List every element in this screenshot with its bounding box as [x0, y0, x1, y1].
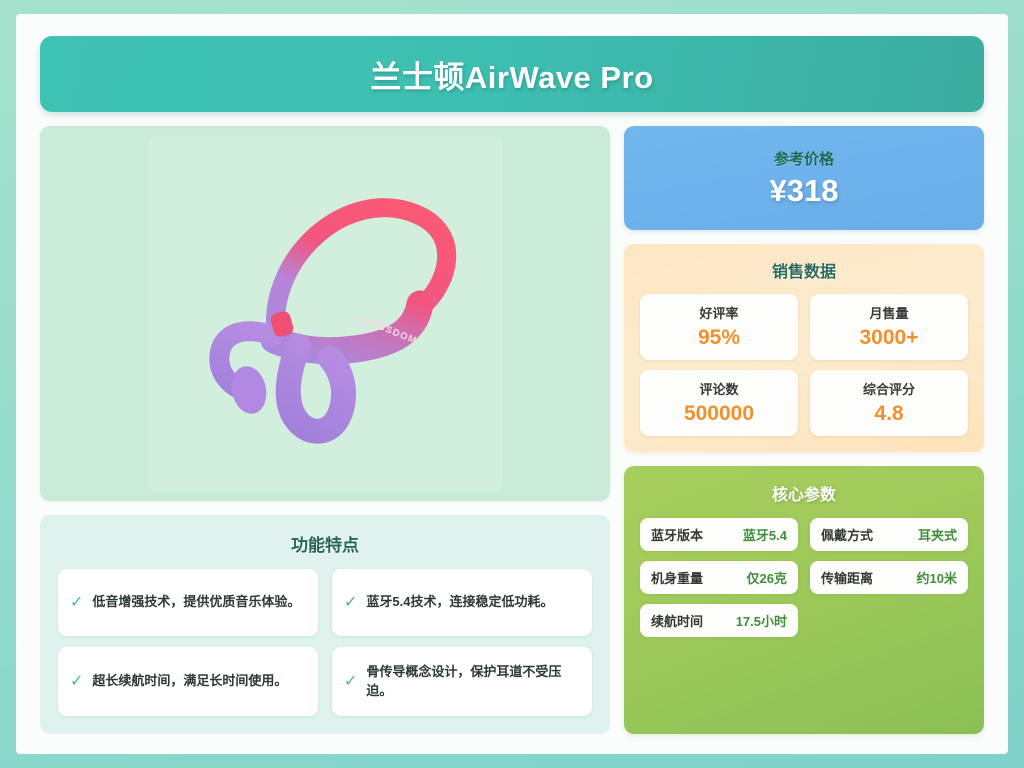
- page-title-banner: 兰士顿AirWave Pro: [40, 36, 984, 112]
- spec-pill-transmission-distance: 传输距离 约10米: [810, 561, 968, 594]
- stat-value: 4.8: [816, 402, 962, 425]
- content-grid: LANGSDOM 功能特点 ✓ 低音增强技术，提供优质音乐体验。 ✓ 蓝牙5.4…: [40, 126, 984, 734]
- stat-tile-overall-score: 综合评分 4.8: [810, 370, 968, 436]
- feature-card: ✓ 超长续航时间，满足长时间使用。: [58, 647, 318, 716]
- check-icon: ✓: [344, 674, 357, 690]
- spec-pill-bluetooth-version: 蓝牙版本 蓝牙5.4: [640, 518, 798, 551]
- spec-value: 17.5小时: [736, 611, 787, 630]
- stat-tile-rating-rate: 好评率 95%: [640, 294, 798, 360]
- core-specs-card: 核心参数 蓝牙版本 蓝牙5.4 佩戴方式 耳夹式 机身重量 仅26克: [624, 466, 984, 734]
- check-icon: ✓: [70, 674, 83, 690]
- stat-label: 月售量: [816, 303, 962, 322]
- feature-card: ✓ 蓝牙5.4技术，连接稳定低功耗。: [332, 569, 592, 636]
- stat-value: 500000: [646, 402, 792, 425]
- product-detail-page: 兰士顿AirWave Pro: [16, 14, 1008, 754]
- features-panel: 功能特点 ✓ 低音增强技术，提供优质音乐体验。 ✓ 蓝牙5.4技术，连接稳定低功…: [40, 515, 610, 734]
- spec-value: 蓝牙5.4: [743, 525, 787, 544]
- feature-card: ✓ 骨传导概念设计，保护耳道不受压迫。: [332, 647, 592, 716]
- feature-text: 低音增强技术，提供优质音乐体验。: [92, 593, 300, 612]
- stat-label: 评论数: [646, 379, 792, 398]
- stat-label: 综合评分: [816, 379, 962, 398]
- spec-label: 续航时间: [651, 611, 703, 630]
- feature-text: 骨传导概念设计，保护耳道不受压迫。: [366, 663, 580, 701]
- left-column: LANGSDOM 功能特点 ✓ 低音增强技术，提供优质音乐体验。 ✓ 蓝牙5.4…: [40, 126, 610, 734]
- features-grid: ✓ 低音增强技术，提供优质音乐体验。 ✓ 蓝牙5.4技术，连接稳定低功耗。 ✓ …: [58, 569, 592, 716]
- features-title: 功能特点: [58, 531, 592, 556]
- core-specs-title: 核心参数: [640, 481, 968, 505]
- spec-value: 耳夹式: [918, 525, 957, 544]
- stat-tile-review-count: 评论数 500000: [640, 370, 798, 436]
- spec-label: 佩戴方式: [821, 525, 873, 544]
- page-title: 兰士顿AirWave Pro: [370, 52, 653, 97]
- right-column: 参考价格 ¥318 销售数据 好评率 95% 月售量 3000+ 评论数: [624, 126, 984, 734]
- check-icon: ✓: [344, 595, 357, 611]
- feature-text: 蓝牙5.4技术，连接稳定低功耗。: [366, 593, 553, 612]
- spec-value: 约10米: [917, 568, 957, 587]
- check-icon: ✓: [70, 595, 83, 611]
- stat-value: 95%: [646, 326, 792, 349]
- feature-card: ✓ 低音增强技术，提供优质音乐体验。: [58, 569, 318, 636]
- price-label: 参考价格: [774, 148, 834, 169]
- price-card: 参考价格 ¥318: [624, 126, 984, 230]
- stat-label: 好评率: [646, 303, 792, 322]
- spec-label: 机身重量: [651, 568, 703, 587]
- spec-pill-weight: 机身重量 仅26克: [640, 561, 798, 594]
- spec-label: 蓝牙版本: [651, 525, 703, 544]
- sales-stat-grid: 好评率 95% 月售量 3000+ 评论数 500000 综合评分 4.8: [640, 294, 968, 436]
- stat-tile-monthly-sales: 月售量 3000+: [810, 294, 968, 360]
- spec-pill-battery-life: 续航时间 17.5小时: [640, 604, 798, 637]
- spec-pill-wear-style: 佩戴方式 耳夹式: [810, 518, 968, 551]
- product-image-panel: LANGSDOM: [40, 126, 610, 501]
- headphones-illustration: [148, 136, 503, 491]
- stat-value: 3000+: [816, 326, 962, 349]
- sales-data-title: 销售数据: [640, 258, 968, 282]
- spec-label: 传输距离: [821, 568, 873, 587]
- product-image: LANGSDOM: [148, 136, 503, 491]
- sales-data-card: 销售数据 好评率 95% 月售量 3000+ 评论数 500000: [624, 244, 984, 452]
- feature-text: 超长续航时间，满足长时间使用。: [92, 672, 287, 691]
- spec-value: 仅26克: [747, 568, 787, 587]
- price-value: ¥318: [770, 173, 839, 209]
- core-specs-grid: 蓝牙版本 蓝牙5.4 佩戴方式 耳夹式 机身重量 仅26克 传输距离 约10米: [640, 518, 968, 637]
